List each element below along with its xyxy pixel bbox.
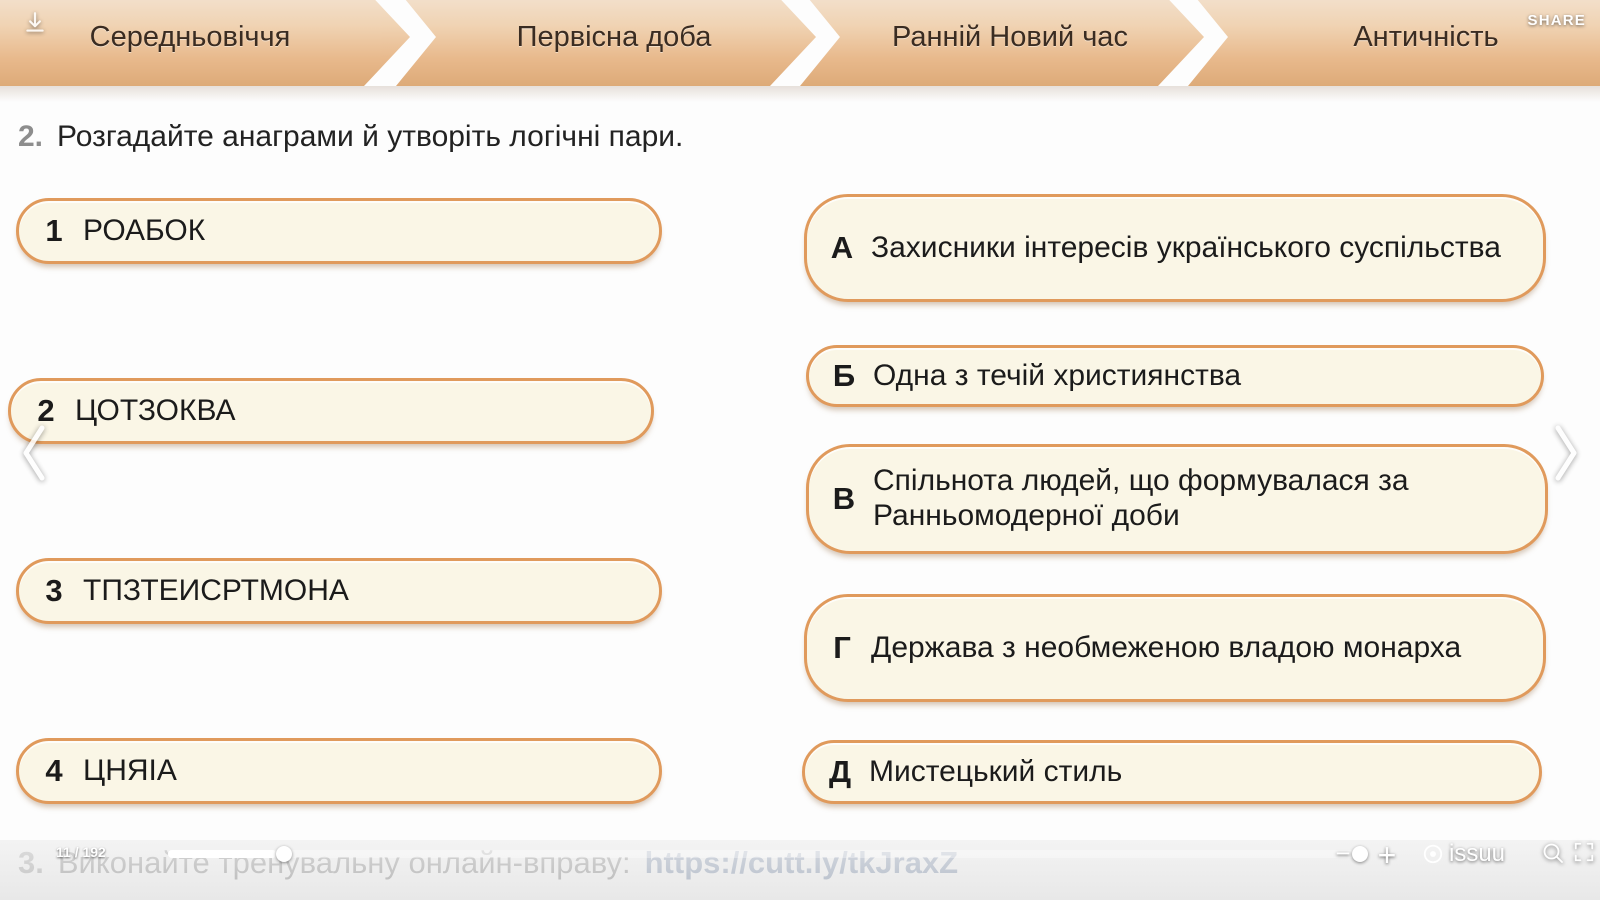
- definition-card-d[interactable]: Г Держава з необмеженою владою монарха: [804, 594, 1546, 702]
- timeline-shadow: [0, 86, 1600, 102]
- page-scrubber[interactable]: [168, 850, 1368, 858]
- issuu-mark-icon: [1422, 843, 1444, 865]
- definition-text-c: Спільнота людей, що формувалася за Раннь…: [873, 464, 1523, 534]
- share-button[interactable]: SHARE: [1527, 12, 1586, 29]
- definition-key-e: Д: [827, 754, 853, 790]
- timeline-label-4: Античність: [1327, 21, 1508, 53]
- chevron-left-icon[interactable]: [14, 418, 56, 488]
- definition-key-a: А: [829, 230, 855, 266]
- timeline-chevron-1: Середньовіччя: [0, 0, 410, 86]
- anagram-key-1: 1: [41, 213, 67, 249]
- definition-card-b[interactable]: Б Одна з течій християнства: [806, 345, 1544, 407]
- timeline-chevron-2: Первісна доба: [396, 0, 816, 86]
- definition-card-c[interactable]: В Спільнота людей, що формувалася за Ран…: [806, 444, 1548, 554]
- search-icon[interactable]: [1540, 840, 1566, 866]
- download-icon[interactable]: [18, 6, 52, 40]
- anagram-card-4[interactable]: 4 ЦНЯІА: [16, 738, 662, 804]
- page-indicator: 11 / 192: [56, 844, 106, 860]
- zoom-in-button[interactable]: +: [1372, 840, 1402, 870]
- definition-card-a[interactable]: А Захисники інтересів українського суспі…: [804, 194, 1546, 302]
- anagram-key-3: 3: [41, 573, 67, 609]
- exercise-heading: 2. Розгадайте анаграми й утворіть логічн…: [18, 120, 1018, 154]
- anagram-text-3: ТПЗТЕИСРТМОНА: [83, 574, 349, 609]
- era-timeline: Середньовіччя Первісна доба Ранній Новий…: [0, 0, 1600, 88]
- definition-key-d: Г: [829, 630, 855, 666]
- zoom-out-button[interactable]: −: [1330, 840, 1356, 866]
- anagram-text-2: ЦОТЗОКВА: [75, 394, 235, 429]
- exercise-number: 2.: [18, 120, 43, 154]
- definition-text-e: Мистецький стиль: [869, 755, 1122, 790]
- timeline-chevron-3: Ранній Новий час: [800, 0, 1204, 86]
- definition-key-c: В: [831, 481, 857, 517]
- anagram-text-4: ЦНЯІА: [83, 754, 177, 789]
- definition-key-b: Б: [831, 358, 857, 394]
- anagram-key-4: 4: [41, 753, 67, 789]
- issuu-logo[interactable]: issuu: [1422, 840, 1505, 868]
- anagram-text-1: РОАБОК: [83, 214, 205, 249]
- timeline-label-3: Ранній Новий час: [866, 21, 1138, 53]
- anagram-card-3[interactable]: 3 ТПЗТЕИСРТМОНА: [16, 558, 662, 624]
- definition-text-b: Одна з течій християнства: [873, 359, 1241, 394]
- timeline-label-2: Первісна доба: [491, 21, 722, 53]
- document-page: Середньовіччя Первісна доба Ранній Новий…: [0, 0, 1600, 900]
- definition-card-e[interactable]: Д Мистецький стиль: [802, 740, 1542, 804]
- issuu-wordmark: issuu: [1449, 840, 1505, 868]
- anagram-card-1[interactable]: 1 РОАБОК: [16, 198, 662, 264]
- definition-text-a: Захисники інтересів українського суспіль…: [871, 231, 1501, 266]
- exercise-instruction: Розгадайте анаграми й утворіть логічні п…: [57, 120, 683, 154]
- page-scrubber-handle[interactable]: [276, 846, 292, 862]
- fullscreen-icon[interactable]: [1572, 840, 1596, 864]
- chevron-right-icon[interactable]: [1544, 418, 1586, 488]
- page-scrubber-fill: [168, 850, 276, 858]
- definition-text-d: Держава з необмеженою владою монарха: [871, 631, 1461, 666]
- anagram-card-2[interactable]: 2 ЦОТЗОКВА: [8, 378, 654, 444]
- timeline-label-1: Середньовіччя: [64, 21, 301, 53]
